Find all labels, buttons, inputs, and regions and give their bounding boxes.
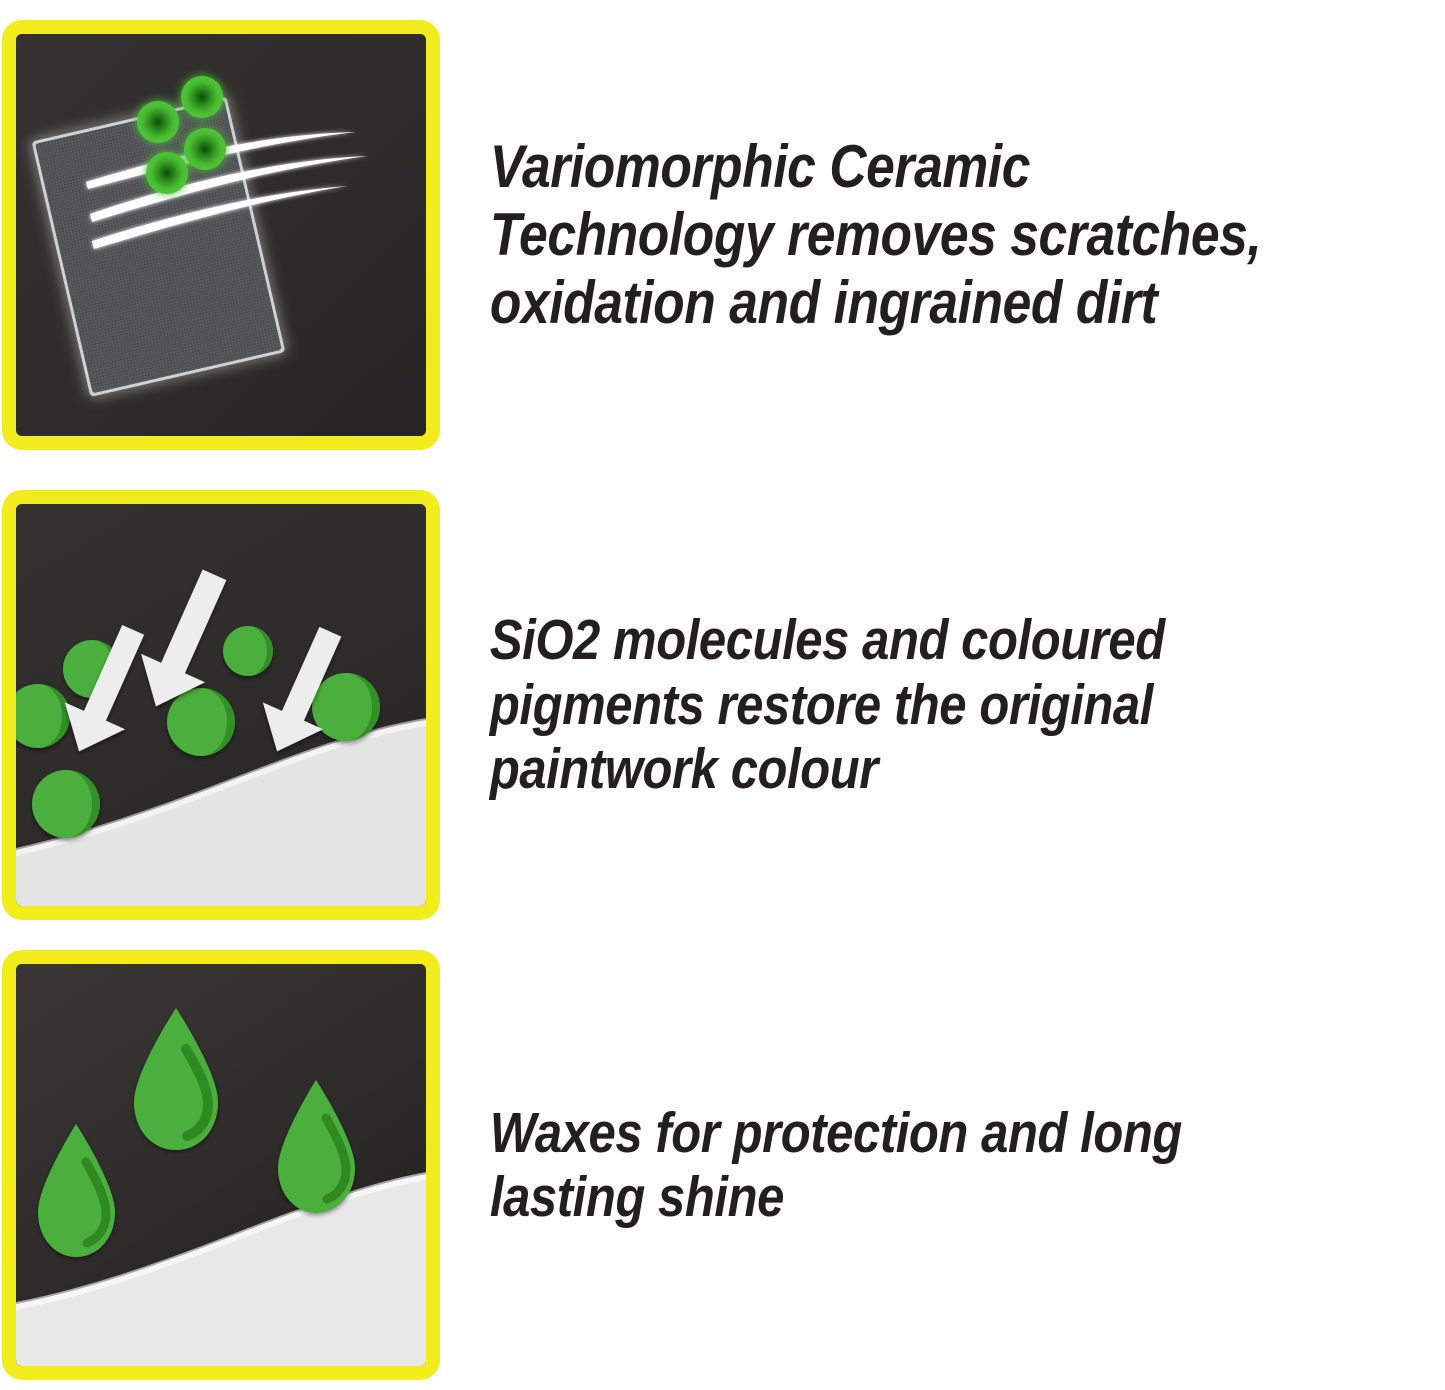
icon-tile-scratch-removal bbox=[2, 20, 440, 450]
feature-infographic: Variomorphic Ceramic Technology removes … bbox=[0, 0, 1445, 1390]
feature-row-scratch-removal: Variomorphic Ceramic Technology removes … bbox=[0, 0, 1445, 470]
feature-text-wax-protection: Waxes for protection and long lasting sh… bbox=[440, 1101, 1304, 1230]
feature-text-scratch-removal: Variomorphic Ceramic Technology removes … bbox=[440, 133, 1304, 336]
microfibre-cloth-scratches-icon bbox=[16, 34, 426, 436]
feature-row-sio2-pigments: SiO2 molecules and coloured pigments res… bbox=[0, 470, 1445, 940]
feature-row-wax-protection: Waxes for protection and long lasting sh… bbox=[0, 940, 1445, 1390]
sio2-molecules-arrows-icon bbox=[16, 504, 426, 906]
icon-tile-sio2-pigments bbox=[2, 490, 440, 920]
icon-tile-wax-protection bbox=[2, 950, 440, 1380]
water-droplets-beading-icon bbox=[16, 964, 426, 1366]
feature-text-sio2-pigments: SiO2 molecules and coloured pigments res… bbox=[440, 608, 1304, 801]
